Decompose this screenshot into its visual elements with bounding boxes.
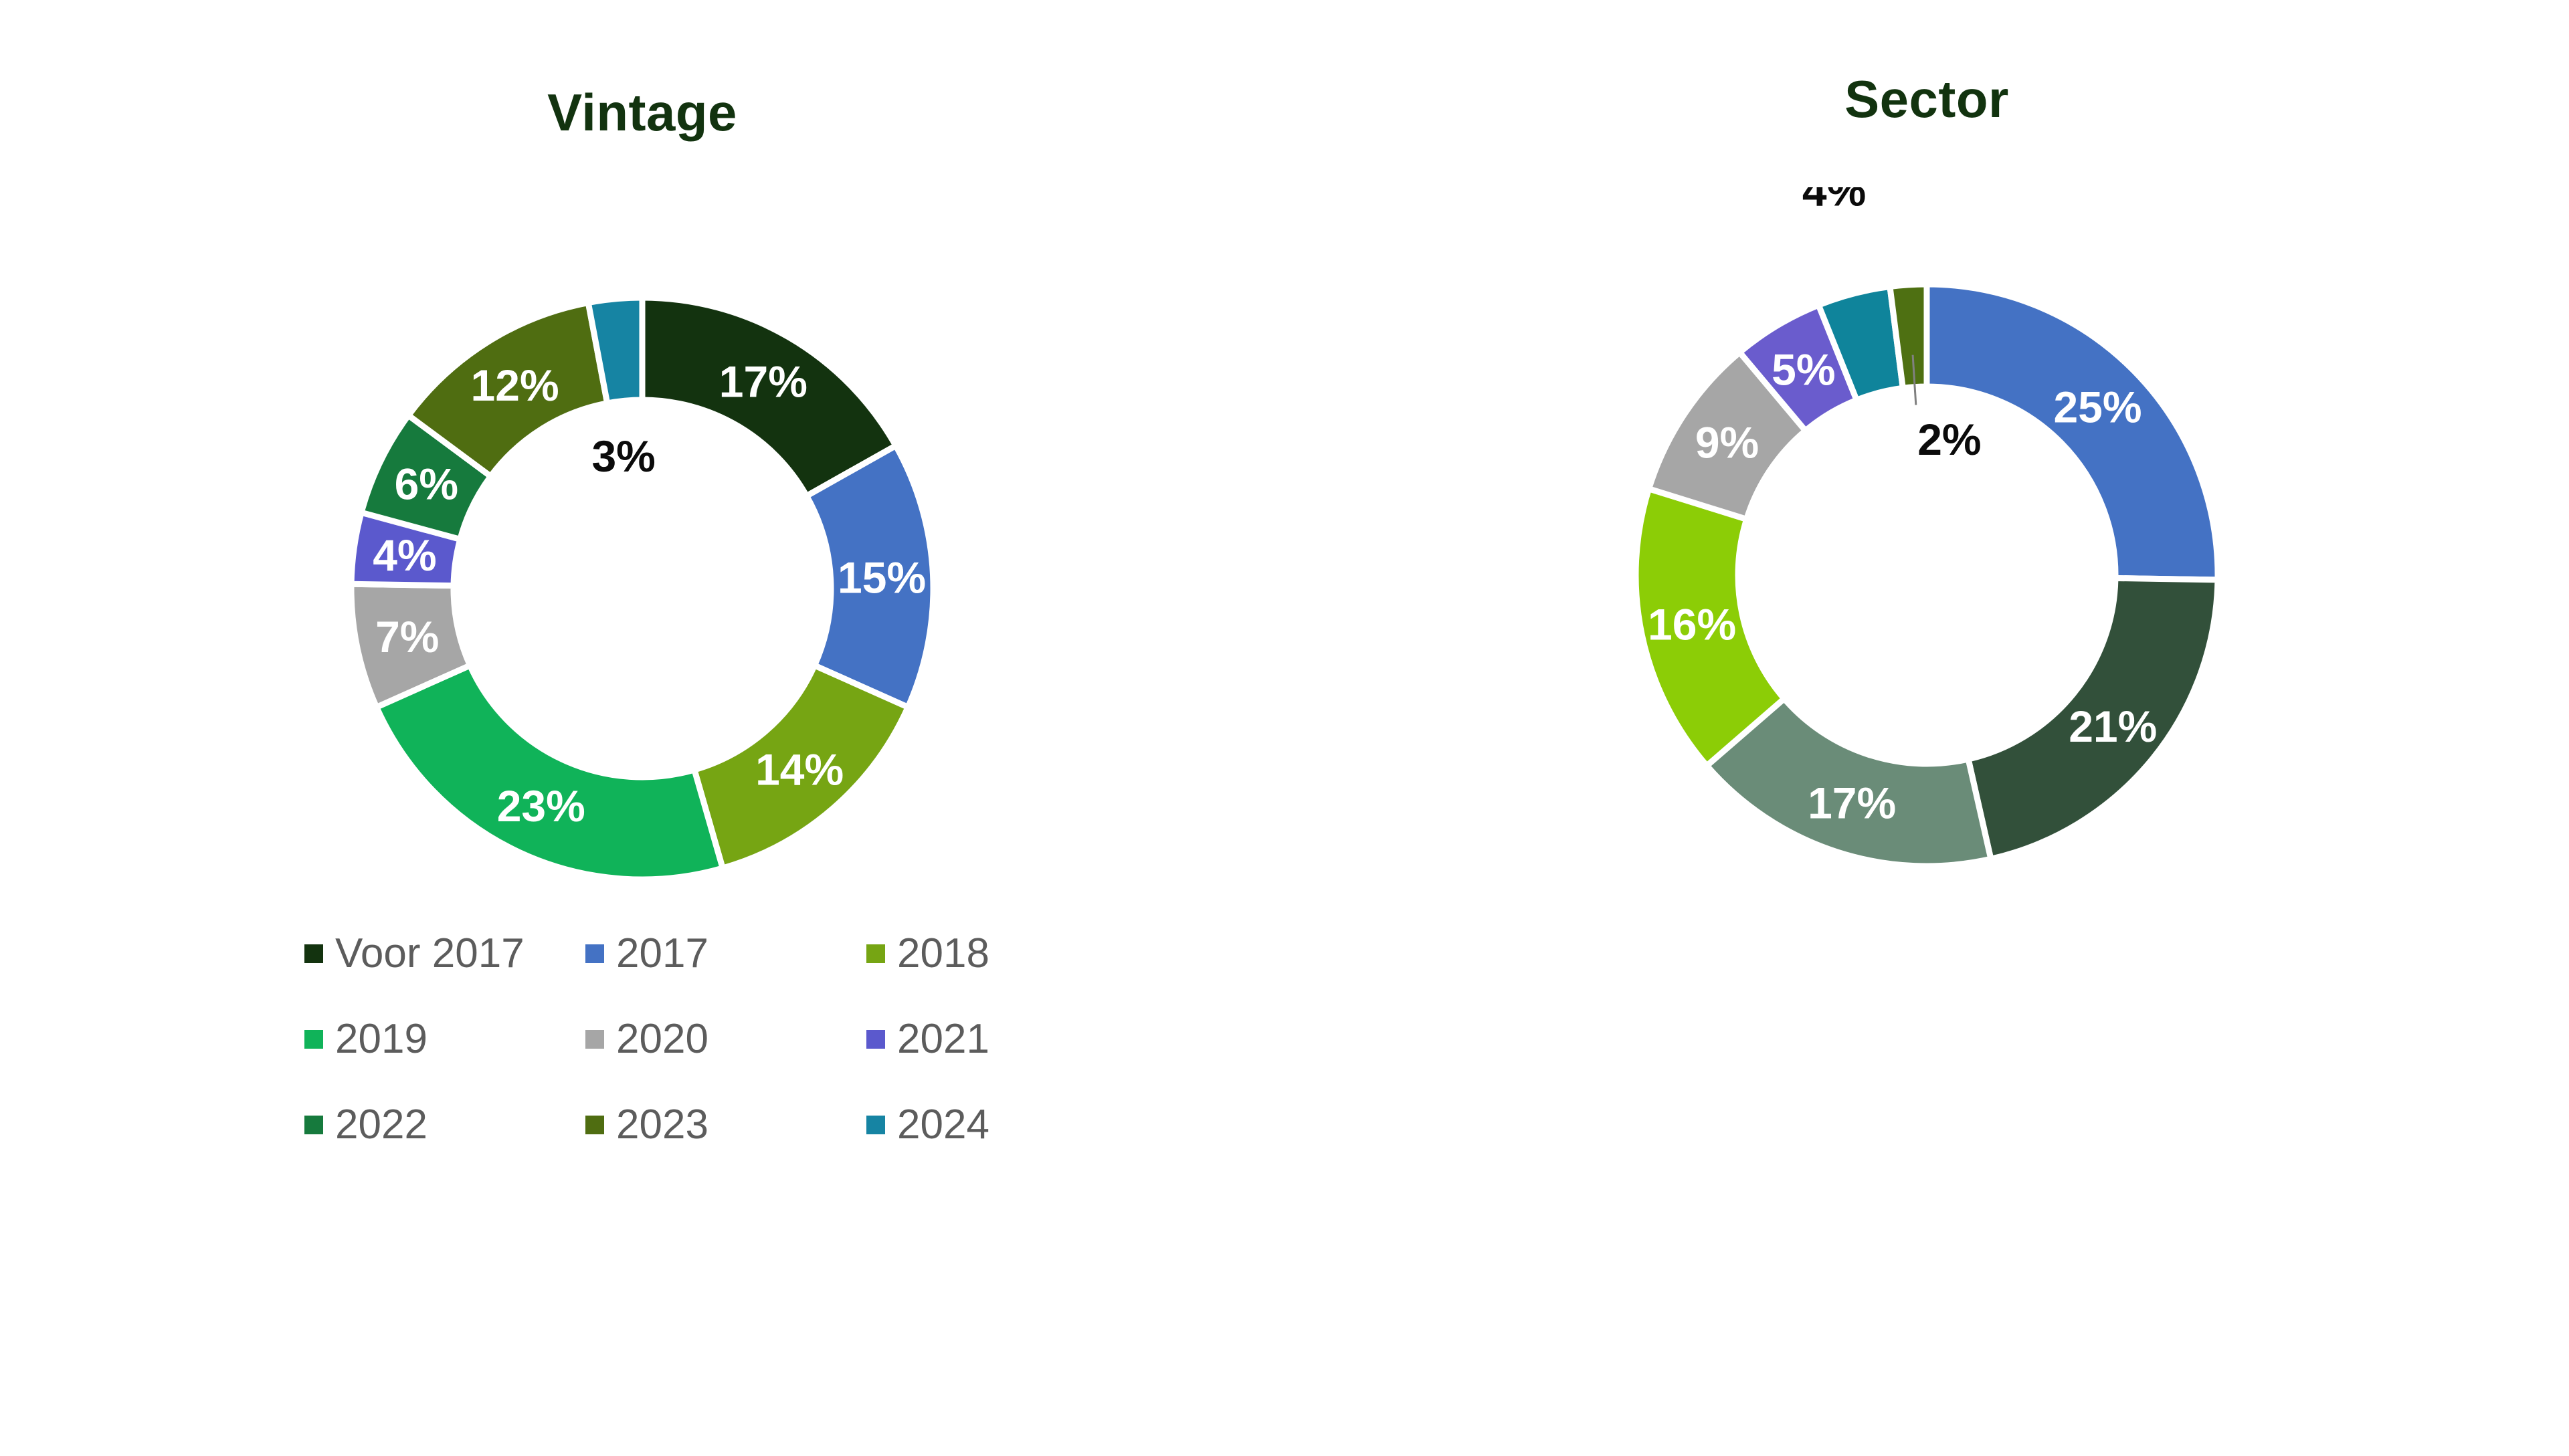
legend-item-label: 2023 — [616, 1104, 708, 1146]
vintage-legend-item[interactable]: 2023 — [585, 1104, 866, 1146]
vintage-legend-item[interactable]: 2021 — [866, 1019, 1147, 1060]
vintage-donut-chart: 17%15%14%23%7%4%6%12%3% — [241, 201, 1044, 983]
vintage-legend-item[interactable]: 2019 — [304, 1019, 585, 1060]
slice-percentage-label: 14% — [755, 745, 844, 795]
vintage-legend-item[interactable]: 2018 — [866, 933, 1147, 974]
sector-donut-chart: 25%21%17%16%9%5%4%2% — [1525, 187, 2328, 970]
legend-color-swatch-icon — [585, 1030, 604, 1049]
sector-donut-container: 25%21%17%16%9%5%4%2% — [1284, 187, 2569, 970]
slice-percentage-label: 17% — [719, 356, 807, 406]
slice-percentage-label: 17% — [1808, 778, 1896, 828]
dual-donut-chart-figure: Vintage 17%15%14%23%7%4%6%12%3% Voor 201… — [0, 0, 2569, 1452]
vintage-legend: Voor 20172017201820192020202120222023202… — [304, 933, 1147, 1190]
slice-percentage-label: 3% — [591, 431, 655, 481]
legend-color-swatch-icon — [304, 1116, 323, 1134]
legend-item-label: 2019 — [335, 1019, 427, 1060]
donut-slice[interactable] — [377, 665, 723, 879]
legend-color-swatch-icon — [585, 944, 604, 963]
legend-item-label: 2022 — [335, 1104, 427, 1146]
legend-item-label: Voor 2017 — [335, 933, 525, 974]
slice-percentage-label: 2% — [1917, 415, 1981, 464]
donut-slices-group — [1636, 284, 2218, 866]
legend-item-label: 2020 — [616, 1019, 708, 1060]
slice-percentage-label: 4% — [373, 530, 436, 580]
slice-percentage-label: 15% — [838, 552, 926, 602]
slice-percentage-label: 9% — [1695, 417, 1759, 467]
legend-item-label: 2024 — [897, 1104, 989, 1146]
legend-item-label: 2021 — [897, 1019, 989, 1060]
legend-color-swatch-icon — [866, 1116, 885, 1134]
page-title-vintage: Vintage — [0, 82, 1284, 143]
slice-percentage-label: 25% — [2053, 383, 2142, 432]
vintage-donut-container: 17%15%14%23%7%4%6%12%3% — [0, 201, 1284, 983]
page-title-sector: Sector — [1284, 69, 2569, 130]
slice-percentage-label: 7% — [375, 612, 439, 661]
slice-percentage-label: 16% — [1648, 599, 1736, 649]
vintage-legend-item[interactable]: 2017 — [585, 933, 866, 974]
slice-percentage-label: 4% — [1802, 187, 1866, 215]
legend-item-label: 2017 — [616, 933, 708, 974]
vintage-legend-item[interactable]: 2022 — [304, 1104, 585, 1146]
vintage-legend-item[interactable]: 2024 — [866, 1104, 1147, 1146]
legend-item-label: 2018 — [897, 933, 989, 974]
slice-percentage-label: 5% — [1772, 344, 1835, 394]
vintage-legend-item[interactable]: 2020 — [585, 1019, 866, 1060]
vintage-legend-item[interactable]: Voor 2017 — [304, 933, 585, 974]
legend-color-swatch-icon — [304, 944, 323, 963]
slice-percentage-label: 23% — [497, 781, 585, 831]
slice-percentage-label: 6% — [395, 459, 458, 509]
legend-color-swatch-icon — [866, 944, 885, 963]
legend-color-swatch-icon — [866, 1030, 885, 1049]
legend-color-swatch-icon — [304, 1030, 323, 1049]
slice-percentage-label: 12% — [471, 360, 559, 410]
vintage-chart-panel: Vintage 17%15%14%23%7%4%6%12%3% Voor 201… — [0, 0, 1284, 1452]
slice-percentage-label: 21% — [2069, 702, 2157, 751]
sector-chart-panel: Sector 25%21%17%16%9%5%4%2% Industriële … — [1284, 0, 2569, 1452]
legend-color-swatch-icon — [585, 1116, 604, 1134]
